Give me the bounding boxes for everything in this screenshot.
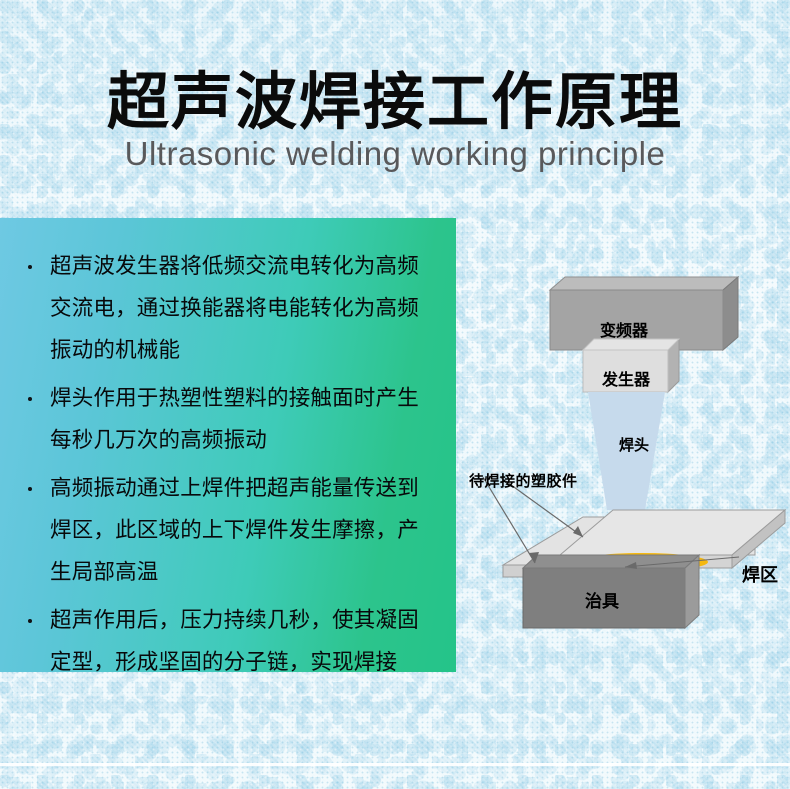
list-item: 超声波发生器将低频交流电转化为高频交流电，通过换能器将电能转化为高频振动的机械能 — [14, 246, 438, 372]
label-welding-horn: 焊头 — [619, 434, 649, 455]
description-panel: 超声波发生器将低频交流电转化为高频交流电，通过换能器将电能转化为高频振动的机械能… — [0, 218, 456, 672]
page-subtitle: Ultrasonic welding working principle — [0, 133, 790, 175]
page-title: 超声波焊接工作原理 — [0, 66, 790, 138]
label-generator: 发生器 — [602, 366, 650, 390]
label-inverter: 变频器 — [600, 317, 648, 341]
list-item: 高频振动通过上焊件把超声能量传送到焊区，此区域的上下焊件发生摩擦，产生局部高温 — [14, 468, 438, 594]
bottom-divider-rule — [0, 763, 790, 766]
list-item: 超声作用后，压力持续几秒，使其凝固定型，形成坚固的分子链，实现焊接 — [14, 600, 438, 684]
list-item: 焊头作用于热塑性塑料的接触面时产生每秒几万次的高频振动 — [14, 378, 438, 462]
label-fixture: 治具 — [585, 587, 619, 612]
label-weld-zone: 焊区 — [742, 561, 778, 587]
ultrasonic-welding-diagram — [455, 255, 790, 655]
label-plastic-parts: 待焊接的塑胶件 — [469, 470, 578, 491]
poster-root: 超声波焊接工作原理 Ultrasonic welding working pri… — [0, 0, 790, 789]
bullet-list: 超声波发生器将低频交流电转化为高频交流电，通过换能器将电能转化为高频振动的机械能… — [14, 246, 438, 684]
